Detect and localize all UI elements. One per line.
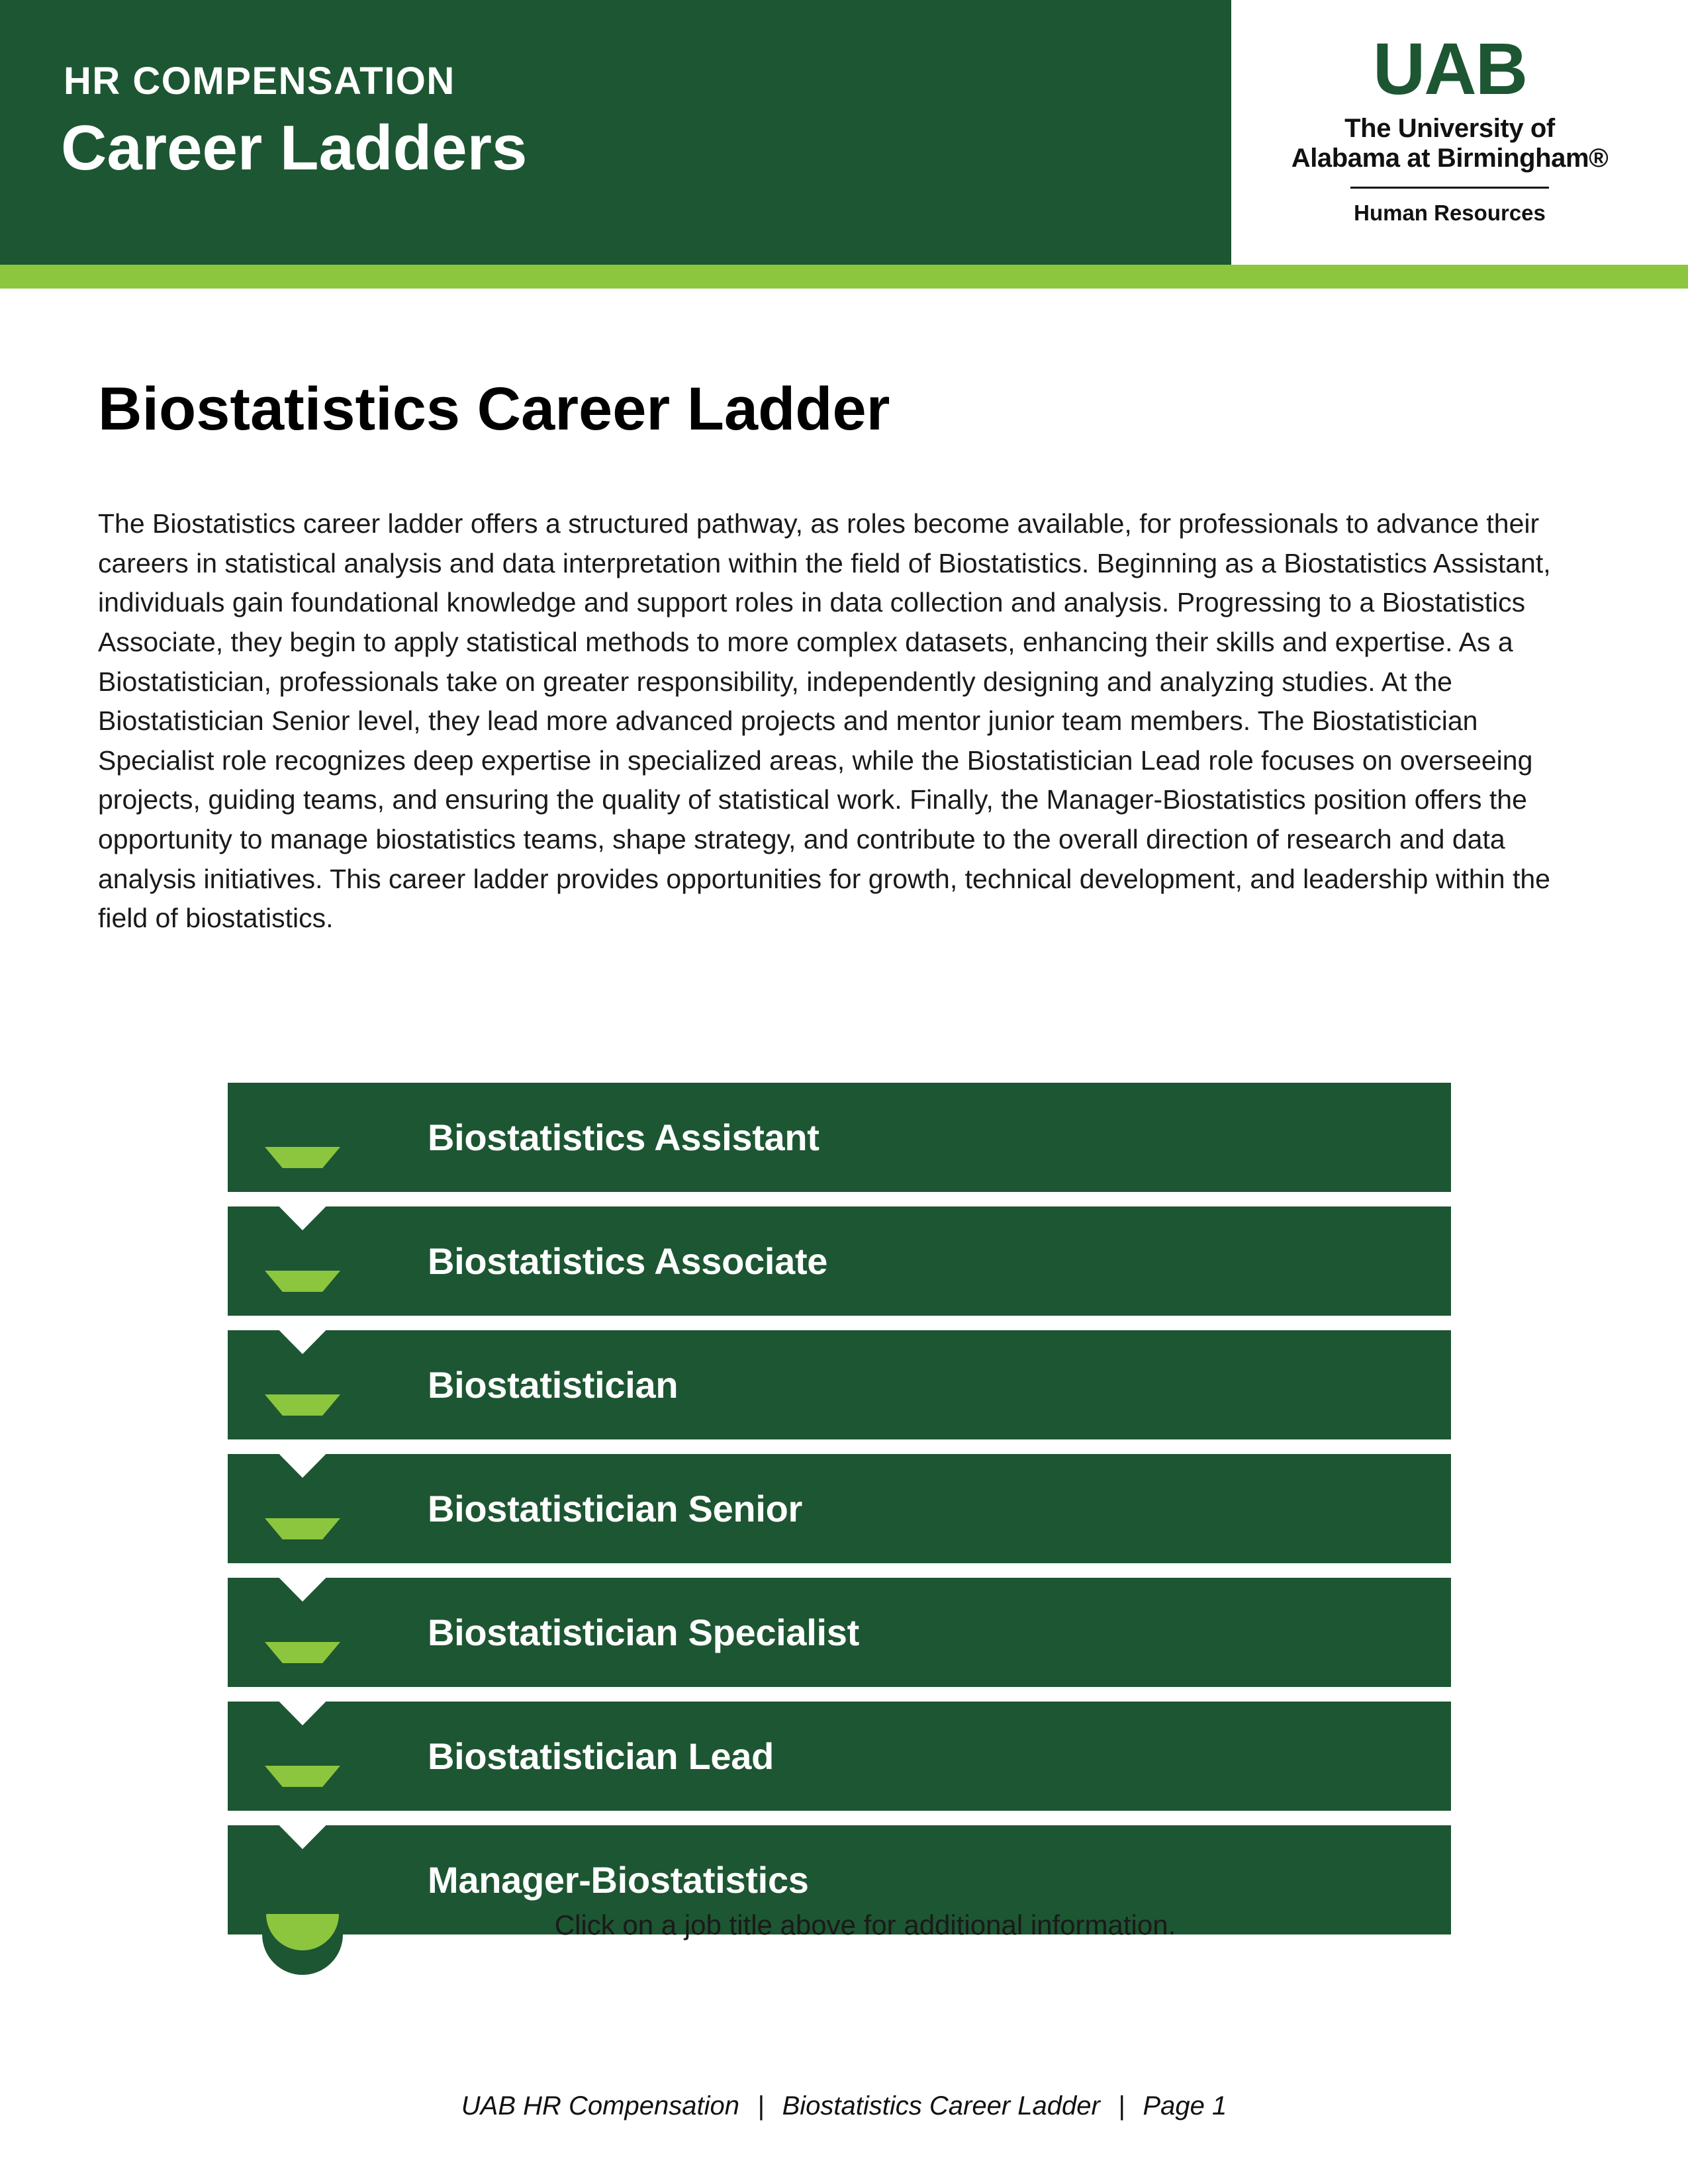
- ladder-rung[interactable]: Biostatistician: [228, 1330, 1451, 1439]
- ladder-rung-bar[interactable]: [228, 1454, 1451, 1563]
- ladder-rung-separator: [228, 1316, 1451, 1330]
- ladder-rung-bar[interactable]: [228, 1206, 1451, 1316]
- ladder-rung-label[interactable]: Biostatistician Senior: [428, 1490, 802, 1527]
- separator-band: [228, 1192, 1451, 1206]
- university-name-line1: The University of: [1244, 114, 1655, 144]
- footer-middle: Biostatistics Career Ladder: [782, 2091, 1100, 2120]
- separator-band: [228, 1439, 1451, 1454]
- ladder-rung-label[interactable]: Biostatistics Assistant: [428, 1119, 820, 1156]
- separator-band: [228, 1687, 1451, 1702]
- ladder-rung-separator: [228, 1687, 1451, 1702]
- accent-stripe: [0, 265, 1688, 289]
- footer-right: Page 1: [1143, 2091, 1227, 2120]
- separator-band: [228, 1811, 1451, 1825]
- ladder-rung-label[interactable]: Biostatistician Lead: [428, 1738, 774, 1775]
- page-title: Biostatistics Career Ladder: [98, 379, 890, 439]
- university-name-line2: Alabama at Birmingham®: [1244, 144, 1655, 173]
- document-page: HR COMPENSATION Career Ladders UAB The U…: [0, 0, 1688, 2184]
- ladder-rung-separator: [228, 1811, 1451, 1825]
- ladder-rung-separator: [228, 1563, 1451, 1578]
- separator-band: [228, 1563, 1451, 1578]
- ladder-rung[interactable]: Biostatistics Associate: [228, 1206, 1451, 1316]
- page-footer: UAB HR Compensation | Biostatistics Care…: [0, 2093, 1688, 2119]
- footer-separator-1: |: [747, 2091, 774, 2120]
- ladder-rung-separator: [228, 1439, 1451, 1454]
- ladder-rung-label[interactable]: Biostatistician Specialist: [428, 1614, 859, 1651]
- ladder-rung-label[interactable]: Biostatistics Associate: [428, 1243, 827, 1280]
- ladder-rung-bar[interactable]: [228, 1330, 1451, 1439]
- header-banner: HR COMPENSATION Career Ladders: [0, 0, 1231, 265]
- division-name: Human Resources: [1244, 202, 1655, 224]
- ladder-rung[interactable]: Biostatistician Senior: [228, 1454, 1451, 1563]
- footer-left: UAB HR Compensation: [461, 2091, 739, 2120]
- ladder-rung-bar[interactable]: [228, 1083, 1451, 1192]
- ladder-instruction-note: Click on a job title above for additiona…: [0, 1911, 1688, 1939]
- ladder-rung[interactable]: Biostatistician Lead: [228, 1702, 1451, 1811]
- uab-logo: UAB The University of Alabama at Birming…: [1244, 26, 1655, 238]
- ladder-rung[interactable]: Biostatistician Specialist: [228, 1578, 1451, 1687]
- ladder-rung-label[interactable]: Manager-Biostatistics: [428, 1862, 809, 1899]
- uab-wordmark: UAB: [1244, 33, 1655, 106]
- intro-paragraph: The Biostatistics career ladder offers a…: [98, 504, 1587, 938]
- ladder-rung-separator: [228, 1192, 1451, 1206]
- ladder-rung[interactable]: Biostatistics Assistant: [228, 1083, 1451, 1192]
- career-ladder-diagram: Biostatistics AssistantBiostatistics Ass…: [228, 1083, 1451, 1934]
- header-title: Career Ladders: [61, 116, 527, 180]
- header-kicker: HR COMPENSATION: [64, 62, 455, 101]
- ladder-instruction-text: Click on a job title above for additiona…: [512, 1909, 1176, 1940]
- ladder-rung-bar[interactable]: [228, 1702, 1451, 1811]
- separator-band: [228, 1316, 1451, 1330]
- university-name: The University of Alabama at Birmingham®: [1244, 114, 1655, 173]
- footer-separator-2: |: [1107, 2091, 1135, 2120]
- ladder-rung-label[interactable]: Biostatistician: [428, 1367, 678, 1404]
- logo-divider-rule: [1350, 187, 1549, 189]
